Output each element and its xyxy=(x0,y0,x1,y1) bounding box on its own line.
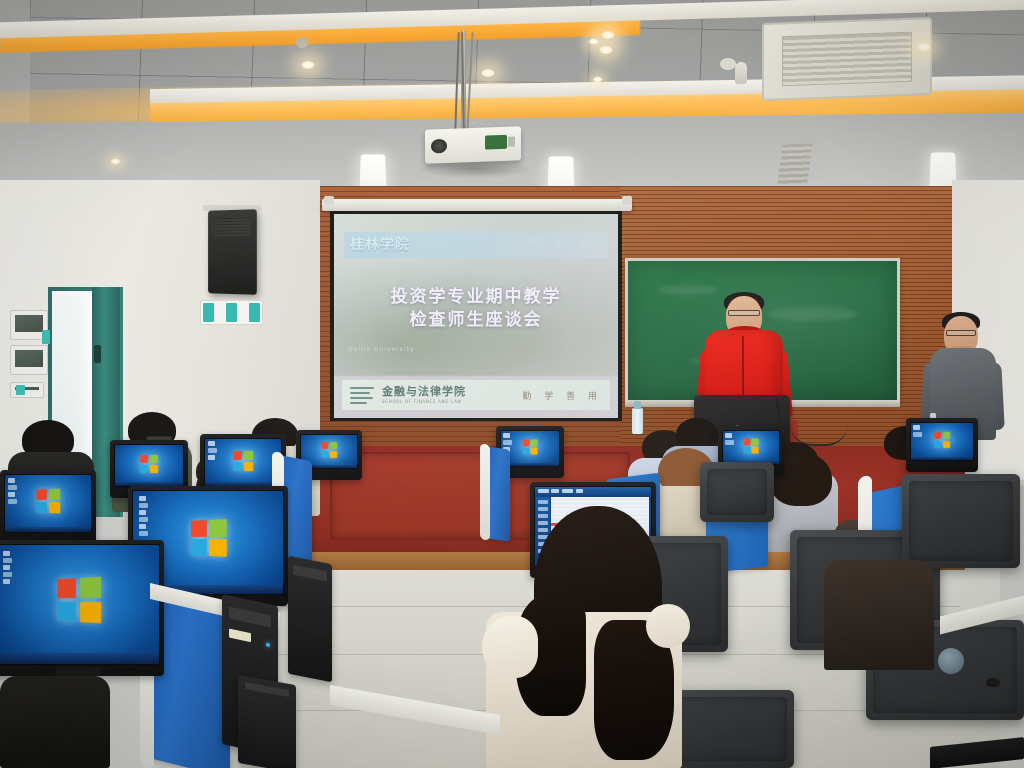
desktop-icons-left-mid-1 xyxy=(8,478,17,504)
windows-logo-icon xyxy=(321,442,337,458)
divider-dot-right-2 xyxy=(938,648,964,674)
slide-footer-bar: 金融与法律学院 SCHOOL OF FINANCE AND LAW 勤 学 善 … xyxy=(342,380,610,410)
drive-bay-icon xyxy=(245,682,289,697)
ac-vent xyxy=(777,143,813,184)
screen-bracket-left xyxy=(324,196,334,205)
monitor-left-mid-1[interactable] xyxy=(0,470,96,544)
wall-control-box-2[interactable] xyxy=(10,345,48,375)
wall-speaker xyxy=(208,209,257,295)
ac-cassette-unit xyxy=(762,17,932,101)
presentation-slide: 桂林学院 （原广西师范大学漓江学院） GUILIN UNIVERSITY 特色 … xyxy=(334,214,618,418)
slide-header-band: 桂林学院 （原广西师范大学漓江学院） GUILIN UNIVERSITY 特色 … xyxy=(344,232,608,258)
monitor-back-center-2[interactable] xyxy=(700,462,774,522)
school-wave-logo-icon xyxy=(350,385,376,405)
downlight-1 xyxy=(300,60,316,70)
pc-tower-left-2 xyxy=(288,556,332,683)
downlight-7 xyxy=(110,158,121,165)
screen-bracket-right xyxy=(622,196,632,205)
slide-footer-school-en: SCHOOL OF FINANCE AND LAW xyxy=(382,399,466,404)
slide-title-line-2: 检查师生座谈会 xyxy=(334,309,618,332)
projector-knob xyxy=(508,137,515,147)
student-foreground-fur-collar xyxy=(482,616,538,678)
drive-bay-icon xyxy=(229,606,272,627)
chalk-smudge-1 xyxy=(658,285,718,295)
windows-logo-icon xyxy=(36,489,60,514)
windows-logo-icon xyxy=(233,450,253,471)
chalk-smudge-2 xyxy=(768,307,858,321)
windows-logo-icon xyxy=(934,432,950,448)
downlight-8 xyxy=(588,38,599,45)
desktop-icons-front-left xyxy=(3,551,12,584)
desktop-icons-far-5 xyxy=(725,433,734,445)
wall-info-sign xyxy=(200,300,263,325)
monitor-far-6[interactable] xyxy=(906,418,978,472)
monitor-back-right-2[interactable] xyxy=(902,474,1020,568)
monitor-front-left[interactable]: hp xyxy=(0,540,164,676)
desk-divider-edge-center-1 xyxy=(480,443,490,540)
monitor-stand-front-left xyxy=(56,667,101,676)
slide-footer-school-cn: 金融与法律学院 xyxy=(382,386,466,397)
downlight-3 xyxy=(600,30,616,40)
downlight-6 xyxy=(916,42,932,52)
wall-label-1 xyxy=(42,330,50,344)
windows-logo-icon xyxy=(523,439,538,454)
pc-tower-bottom xyxy=(238,675,296,768)
student-right-4-body xyxy=(824,560,934,670)
downlight-5 xyxy=(592,76,603,83)
drive-bay-icon xyxy=(293,565,326,581)
app-title-bar xyxy=(535,487,651,496)
taskbar-front-left[interactable] xyxy=(0,653,159,664)
slide-header-subtitle: （原广西师范大学漓江学院） xyxy=(412,239,487,247)
desktop-icons-left-mid-2 xyxy=(139,496,148,536)
presenter-gray-glasses-icon xyxy=(946,330,976,336)
downlight-2 xyxy=(480,68,496,78)
slide-header-english: GUILIN UNIVERSITY xyxy=(352,247,401,252)
student-front-left-body xyxy=(0,676,110,768)
windows-logo-icon xyxy=(57,576,101,623)
smoke-detector-icon xyxy=(720,58,736,70)
slide-header-right-text: 特色 专业 建设 xyxy=(527,236,604,247)
taskbar-left-mid-1[interactable] xyxy=(5,527,91,532)
slide-title-line-1: 投资学专业期中教学 xyxy=(334,286,618,309)
projector-circuit-board xyxy=(485,135,507,150)
windows-logo-icon xyxy=(191,519,227,557)
ceiling-projector xyxy=(425,126,521,163)
speaker-grille-icon xyxy=(214,218,251,237)
presenter-red-glasses-icon xyxy=(728,310,760,316)
pc-asset-tag xyxy=(229,628,251,642)
computer-mouse[interactable] xyxy=(986,678,1000,687)
taskbar-far-6[interactable] xyxy=(911,457,973,460)
projection-screen: 桂林学院 （原广西师范大学漓江学院） GUILIN UNIVERSITY 特色 … xyxy=(334,214,618,418)
ceiling-antenna-icon xyxy=(735,62,747,84)
windows-logo-icon xyxy=(744,439,759,454)
door-handle[interactable] xyxy=(94,345,101,363)
desktop-icons-far-6 xyxy=(913,425,922,437)
student-foreground-fur-collar-right xyxy=(646,604,690,648)
desktop-icons-far-1 xyxy=(208,441,217,460)
windows-logo-icon xyxy=(140,455,158,473)
slide-watermark: Guilin University xyxy=(348,346,414,353)
projector-cables xyxy=(452,32,478,132)
wall-label-2 xyxy=(16,385,25,395)
projector-lens-icon xyxy=(431,139,447,154)
ceiling xyxy=(0,0,1024,200)
downlight-4 xyxy=(598,45,614,55)
projection-screen-housing xyxy=(322,199,632,211)
slide-main-title: 投资学专业期中教学 检查师生座谈会 xyxy=(334,286,618,332)
power-led-icon xyxy=(266,642,270,647)
classroom-photo: 桂林学院 （原广西师范大学漓江学院） GUILIN UNIVERSITY 特色 … xyxy=(0,0,1024,768)
slide-footer-motto: 勤 学 善 用 xyxy=(522,389,602,402)
hand-sanitizer-bottle xyxy=(632,408,643,434)
